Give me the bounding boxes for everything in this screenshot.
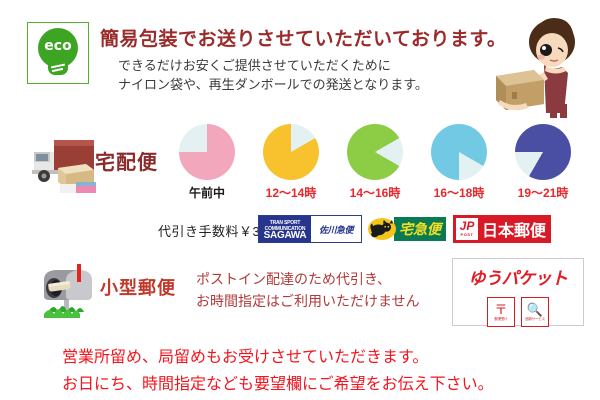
yamato-logo: 宅急便 (368, 217, 446, 241)
kogata-note-line-2: お時間指定はご利用いただけません (196, 290, 420, 312)
footer-line-2: お日にち、時間指定なども要望欄にご希望をお伝え下さい。 (62, 371, 494, 398)
jp-initials: JP (460, 221, 475, 232)
time-slot-label: 12～14時 (260, 184, 322, 201)
mailbox-icon (30, 262, 102, 324)
postbox-icon: 〒 (494, 303, 507, 317)
time-slot-label: 19～21時 (512, 184, 574, 201)
time-slot-1: 午前中 (176, 124, 238, 201)
time-slot-clock-icon (431, 124, 487, 180)
subtitle-line-1: できるだけお安くご提供させていただくために (118, 56, 428, 75)
yupacket-badge-caption: 郵便受け (494, 317, 507, 322)
yupacket-name: ゆうパケット (469, 264, 568, 289)
eco-lightbulb-icon: eco (35, 28, 81, 78)
yupacket-badges: 〒郵便受け🔍追跡サービス (487, 297, 549, 327)
sagawa-logo: TRAN SPORT COMMUNICATION SAGAWA 佐川急便 (258, 215, 362, 243)
time-slot-clock-icon (347, 124, 403, 180)
time-slot-clock-icon (515, 124, 571, 180)
sagawa-wordmark: SAGAWA (264, 233, 307, 239)
time-slot-4: 16～18時 (428, 124, 490, 201)
time-slot-label: 14～16時 (344, 184, 406, 201)
carrier-logos: TRAN SPORT COMMUNICATION SAGAWA 佐川急便 (258, 214, 551, 244)
shipping-info-graphic: eco 簡易包装でお送りさせていただいております。 できるだけお安くご提供させて… (0, 0, 600, 400)
woman-holding-box-illustration (486, 8, 598, 120)
time-slot-3: 14～16時 (344, 124, 406, 201)
japan-post-name: 日本郵便 (482, 217, 546, 241)
time-slot-clock-icon (179, 124, 235, 180)
eco-badge: eco (27, 22, 89, 84)
subtitle-line-2: ナイロン袋や、再生ダンボールでの発送となります。 (118, 75, 428, 94)
footer-note: 営業所留め、局留めもお受けさせていただきます。 お日にち、時間指定なども要望欄に… (62, 344, 494, 398)
time-slot-2: 12～14時 (260, 124, 322, 201)
delivery-time-slots: 午前中12～14時14～16時16～18時19～21時 (176, 124, 596, 202)
tracking-search-icon: 🔍 (527, 303, 543, 317)
kogata-note-line-1: ポストイン配達のため代引き、 (196, 268, 420, 290)
page-title: 簡易包装でお送りさせていただいております。 (100, 24, 506, 51)
jp-post-word: POST (461, 232, 474, 237)
yupacket-badge-1: 〒郵便受け (487, 297, 515, 327)
time-slot-label: 午前中 (176, 184, 238, 201)
black-cat-icon (368, 218, 396, 240)
time-slot-5: 19～21時 (512, 124, 574, 201)
jp-post-mark-icon: JP POST (456, 218, 478, 240)
japan-post-logo: JP POST 日本郵便 (453, 215, 551, 243)
page-subtitle: できるだけお安くご提供させていただくために ナイロン袋や、再生ダンボールでの発送… (118, 56, 428, 94)
yamato-service-name: 宅急便 (394, 217, 446, 241)
yupacket-badge-2: 🔍追跡サービス (521, 297, 549, 327)
footer-line-1: 営業所留め、局留めもお受けさせていただきます。 (62, 344, 494, 371)
sagawa-kana-name: 佐川急便 (311, 216, 361, 242)
yupacket-logo: ゆうパケット 〒郵便受け🔍追跡サービス (452, 258, 584, 326)
kogata-yubin-note: ポストイン配達のため代引き、 お時間指定はご利用いただけません (196, 268, 420, 312)
delivery-truck-icon (30, 132, 102, 194)
eco-badge-text: eco (35, 38, 81, 54)
yupacket-badge-caption: 追跡サービス (525, 317, 545, 322)
time-slot-label: 16～18時 (428, 184, 490, 201)
time-slot-clock-icon (263, 124, 319, 180)
kogata-yubin-label: 小型郵便 (100, 274, 176, 300)
takuhaibin-label: 宅配便 (95, 146, 158, 175)
